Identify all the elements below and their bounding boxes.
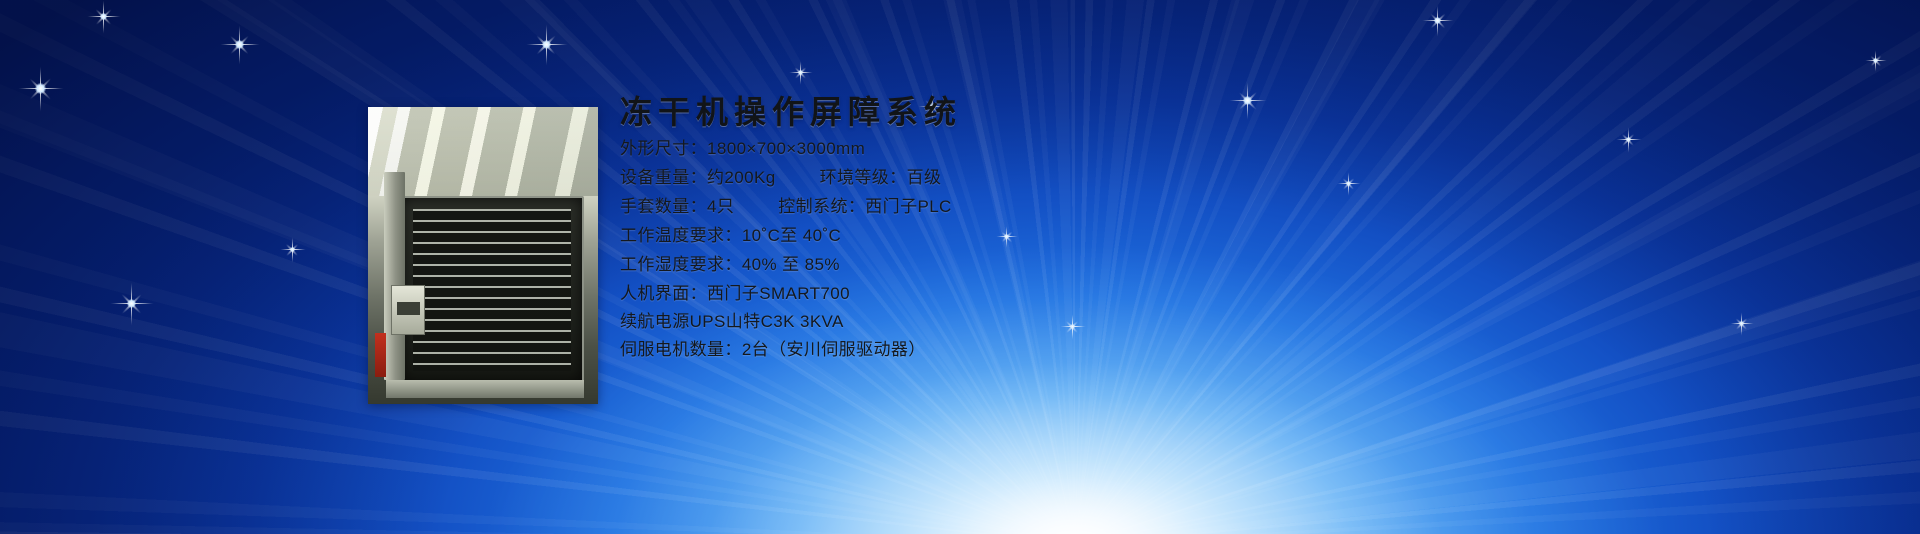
spec-label: 外形尺寸： [620,139,707,158]
photo-pillar [384,172,405,380]
spec-row-servo: 伺服电机数量：2台（安川伺服驱动器） [620,341,1380,358]
spec-label: 续航电源UPS [620,312,726,331]
spec-value: 2台（安川伺服驱动器） [742,340,926,359]
spec-content: 冻干机操作屏障系统 外形尺寸：1800×700×3000mm设备重量：约200K… [620,96,1380,369]
spec-label: 人机界面： [620,284,707,303]
photo-trays [413,209,571,371]
photo-red-marker [375,333,387,378]
spec-list: 外形尺寸：1800×700×3000mm设备重量：约200Kg环境等级：百级手套… [620,140,1380,358]
spec-value: 1800×700×3000mm [707,139,865,158]
spec-label: 工作温度要求： [620,226,742,245]
spec-row-gloves: 手套数量：4只控制系统：西门子PLC [620,198,1380,215]
spec-row-humidity: 工作湿度要求：40% 至 85% [620,256,1380,273]
spec-label-secondary: 环境等级： [820,168,907,187]
spec-row-ups: 续航电源UPS山特C3K 3KVA [620,313,1380,330]
photo-base [386,380,584,398]
spec-value: 山特C3K 3KVA [726,312,844,331]
spec-row-weight: 设备重量：约200Kg环境等级：百级 [620,169,1380,186]
spec-label: 工作湿度要求： [620,255,742,274]
spec-value: 约200Kg [707,168,776,187]
photo-machine [400,196,583,384]
spec-value: 西门子SMART700 [707,284,850,303]
spec-row-hmi: 人机界面：西门子SMART700 [620,285,1380,302]
spec-label-secondary: 控制系统： [778,197,865,216]
spec-value-secondary: 西门子PLC [865,197,951,216]
spec-label: 设备重量： [620,168,707,187]
spec-value: 10˚C至 40˚C [742,226,841,245]
spec-row-temperature: 工作温度要求：10˚C至 40˚C [620,227,1380,244]
spec-value: 40% 至 85% [742,255,840,274]
photo-control-panel [391,285,425,335]
product-photo [368,107,598,404]
spec-value-secondary: 百级 [907,168,942,187]
page-title: 冻干机操作屏障系统 [620,96,1380,128]
spec-value: 4只 [707,197,734,216]
promo-banner: 冻干机操作屏障系统 外形尺寸：1800×700×3000mm设备重量：约200K… [0,0,1920,534]
spec-label: 手套数量： [620,197,707,216]
spec-row-dimensions: 外形尺寸：1800×700×3000mm [620,140,1380,157]
spec-label: 伺服电机数量： [620,340,742,359]
